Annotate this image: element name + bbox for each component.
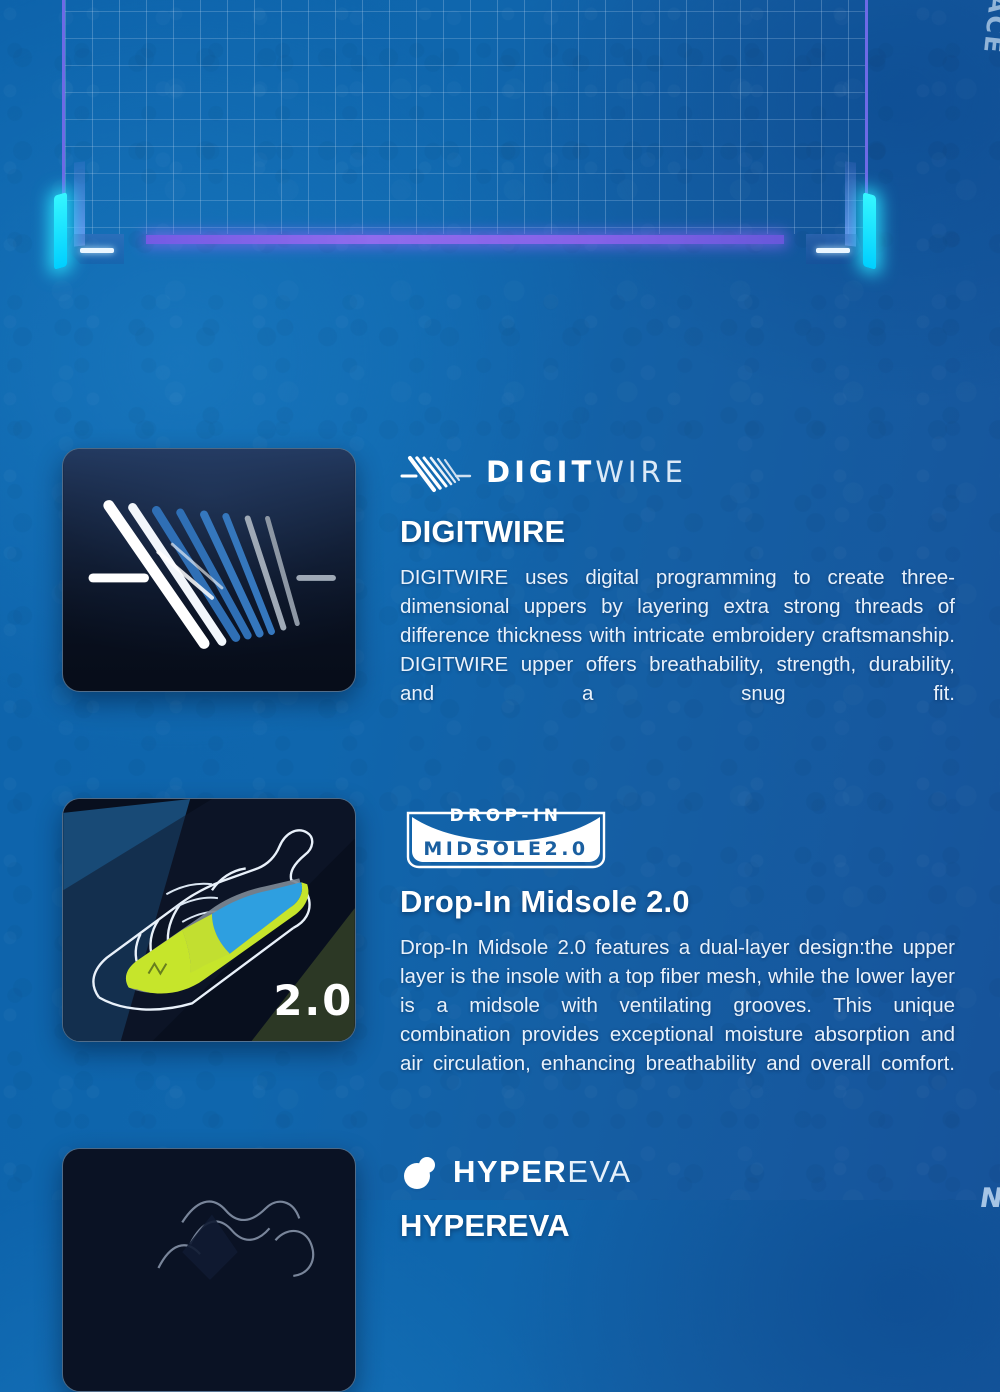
feature-thumbnail-drop-in-midsole[interactable]: 2.0 [62, 798, 356, 1042]
edge-watermark-bottom-right: N [978, 1183, 1000, 1214]
feature-title-digitwire: DIGITWIRE [400, 514, 955, 550]
hud-grid-body: unique combination provides exceptional … [62, 0, 868, 234]
svg-text:DROP-IN: DROP-IN [450, 806, 563, 826]
shoe-midsole-illustration: 2.0 [63, 799, 355, 1041]
feature-description-drop-in-midsole: Drop-In Midsole 2.0 features a dual-laye… [400, 933, 955, 1107]
foam-texture-illustration [63, 1149, 355, 1391]
thumbnail-version-label: 2.0 [273, 976, 353, 1025]
feature-description-digitwire: DIGITWIRE uses digital programming to cr… [400, 563, 955, 737]
feature-title-drop-in-midsole: Drop-In Midsole 2.0 [400, 884, 955, 920]
feature-thumbnail-digitwire[interactable] [62, 448, 356, 692]
feature-thumbnail-hypereva[interactable] [62, 1148, 356, 1392]
hud-corner-bracket-right [804, 162, 874, 272]
hero-hud-panel: unique combination provides exceptional … [62, 0, 868, 328]
hypereva-wordmark: HYPEREVA [453, 1154, 632, 1190]
digitwire-threads-illustration [63, 449, 355, 691]
hypereva-logo: HYPEREVA [400, 1152, 632, 1192]
digitwire-wordmark: DIGITWIRE [486, 455, 687, 489]
cyan-glow-icon [54, 192, 67, 270]
hud-glow-bar [146, 235, 784, 244]
digitwire-mark-icon [400, 450, 472, 494]
drop-in-midsole-badge-logo: DROP-IN MIDSOLE2.0 [400, 803, 612, 871]
droplet-icon [400, 1152, 440, 1192]
hud-corner-bracket-left [56, 162, 126, 272]
svg-text:MIDSOLE2.0: MIDSOLE2.0 [423, 838, 588, 860]
feature-title-hypereva: HYPEREVA [400, 1208, 955, 1244]
digitwire-logo: DIGITWIRE [400, 450, 687, 494]
cyan-glow-icon [863, 192, 876, 270]
